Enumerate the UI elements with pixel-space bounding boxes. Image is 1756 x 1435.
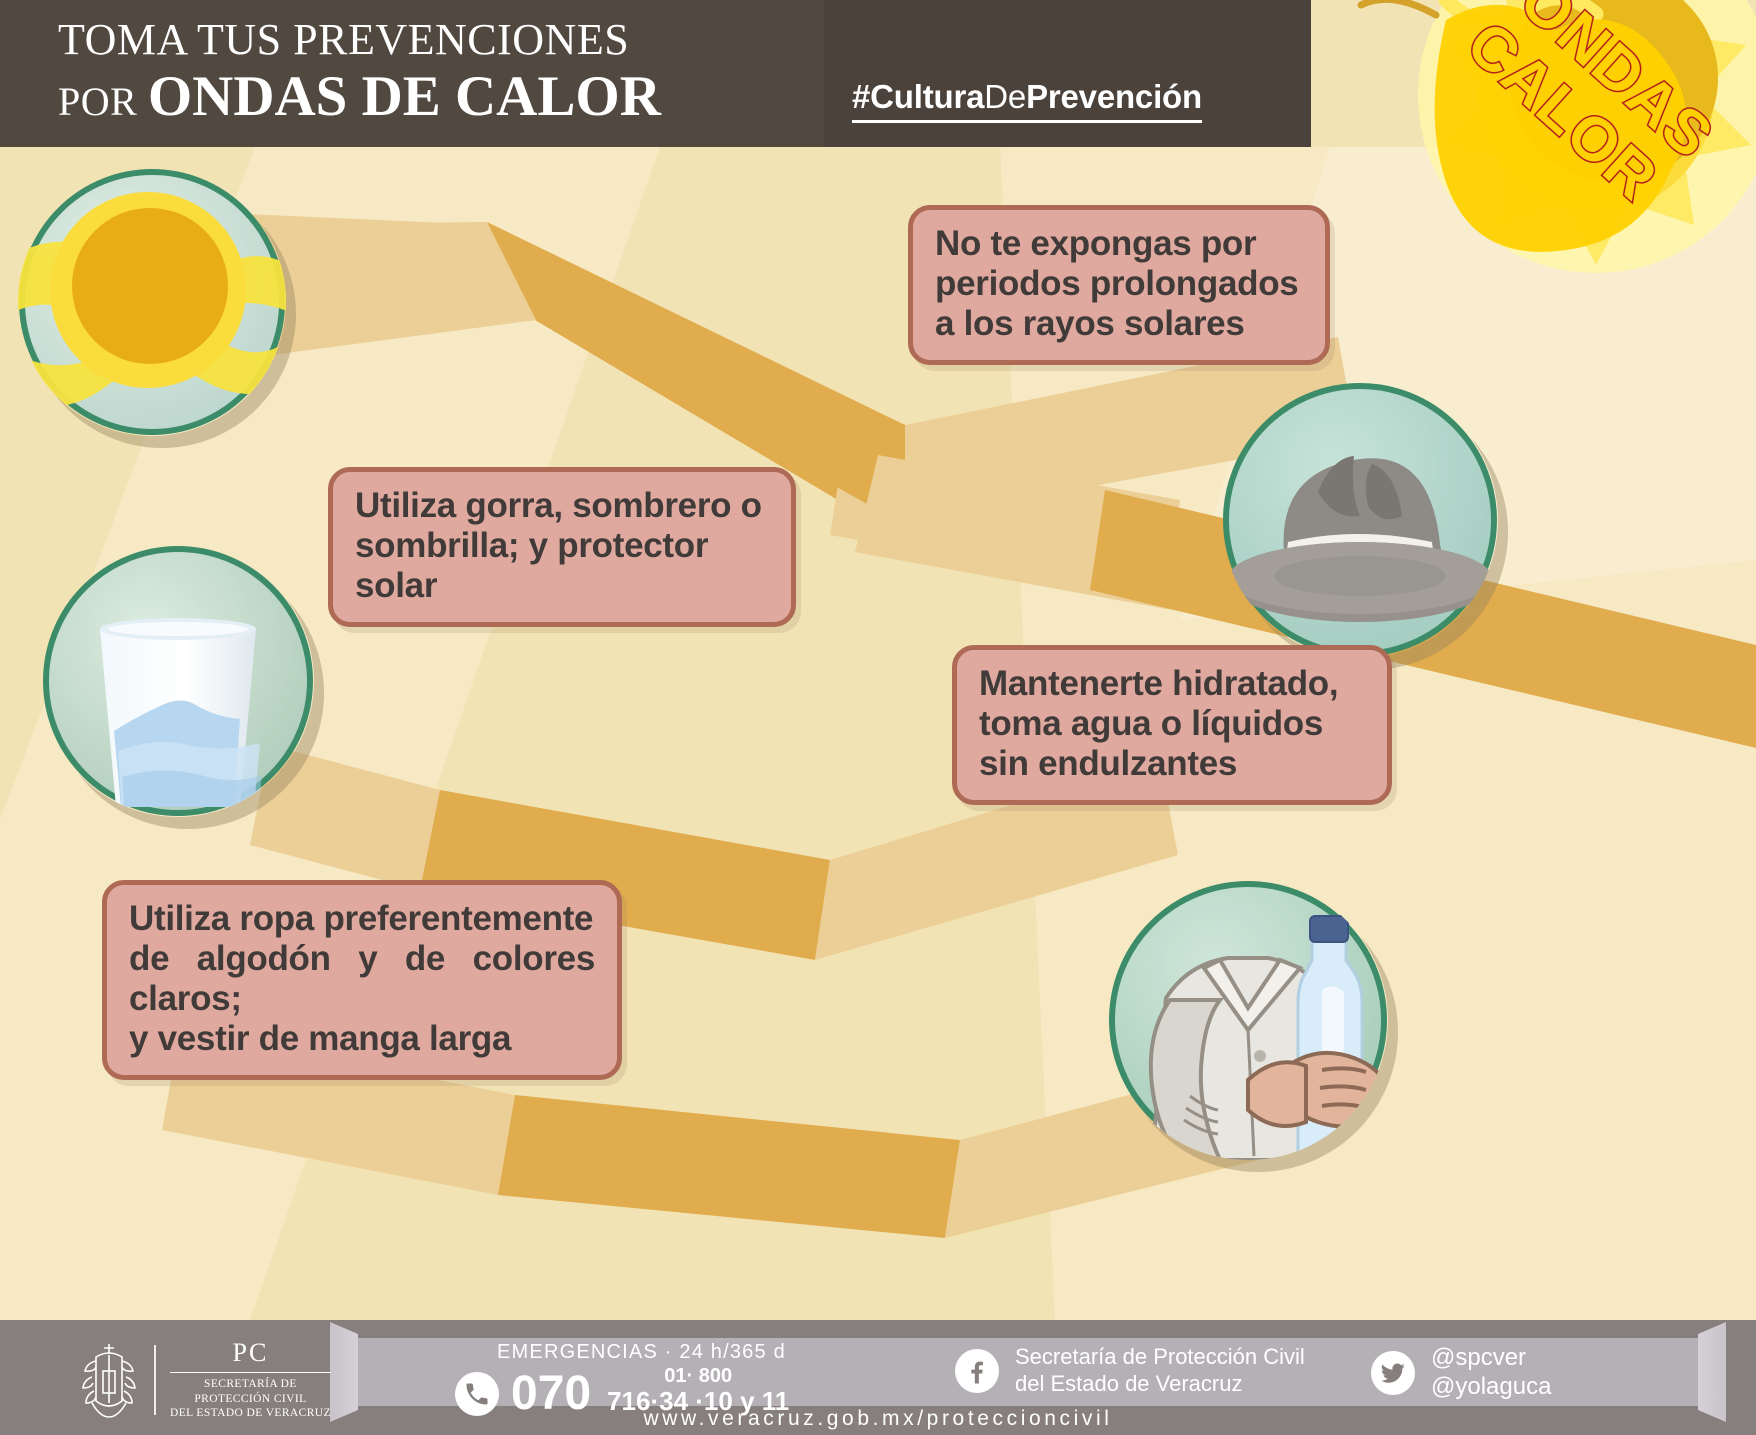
title-line-2-emphasis: ONDAS DE CALOR — [148, 65, 661, 128]
footer-bar: PC SECRETARÍA DE PROTECCIÓN CIVIL DEL ES… — [0, 1320, 1756, 1435]
title-line-2-prefix: POR — [58, 79, 148, 124]
callout-clothing: Utiliza ropa preferentemente de algodón … — [102, 880, 622, 1080]
callout-sun-exposure: No te expongas por periodos prolongados … — [908, 205, 1330, 365]
infographic-poster: TOMA TUS PREVENCIONES POR ONDAS DE CALOR… — [0, 0, 1756, 1435]
callout-line: Mantenerte hidratado, — [979, 664, 1365, 704]
page-title: TOMA TUS PREVENCIONES POR ONDAS DE CALOR — [58, 18, 661, 125]
facebook-line-1: Secretaría de Protección Civil — [1015, 1344, 1305, 1371]
callout-line: Utiliza ropa preferentemente — [129, 899, 595, 939]
callout-line: No te expongas por — [935, 224, 1303, 264]
title-line-2: POR ONDAS DE CALOR — [58, 68, 661, 125]
facebook-icon — [955, 1349, 999, 1393]
callout-line: de algodón y de colores claros; — [129, 939, 595, 1019]
callout-line: toma agua o líquidos — [979, 704, 1365, 744]
hashtag-part-3: Prevención — [1026, 78, 1202, 115]
twitter-handle-1: @spcver — [1431, 1344, 1551, 1373]
facebook-line-2: del Estado de Veracruz — [1015, 1371, 1305, 1398]
facebook-contact[interactable]: Secretaría de Protección Civil del Estad… — [955, 1344, 1305, 1398]
twitter-text: @spcver @yolaguca — [1431, 1344, 1551, 1402]
ondas-de-calor-sun-logo: DE ONDAS CALOR — [1296, 0, 1756, 300]
hashtag-culture-prevention: #CulturaDePrevención — [852, 78, 1202, 123]
emergency-contact[interactable]: EMERGENCIAS · 24 h/365 d 070 01· 800 716… — [455, 1342, 789, 1417]
sun-icon-badge — [18, 168, 286, 436]
hat-icon — [1222, 382, 1498, 658]
callout-hydration: Mantenerte hidratado, toma agua o líquid… — [952, 645, 1392, 805]
emergency-text-group: EMERGENCIAS · 24 h/365 d 070 01· 800 716… — [455, 1342, 789, 1417]
sun-icon — [18, 168, 286, 436]
person-bottle-icon-badge — [1108, 880, 1388, 1160]
emergency-label: EMERGENCIAS · 24 h/365 d — [455, 1342, 789, 1362]
callout-hat-sunscreen: Utiliza gorra, sombrero o sombrilla; y p… — [328, 467, 796, 627]
institution-line-1: SECRETARÍA DE — [170, 1377, 331, 1392]
header-bar: TOMA TUS PREVENCIONES POR ONDAS DE CALOR… — [0, 0, 1311, 147]
institution-rule — [170, 1372, 331, 1373]
person-bottle-icon — [1108, 880, 1388, 1160]
emergency-alt-prefix: 01· 800 — [607, 1365, 789, 1387]
callout-line: periodos prolongados — [935, 264, 1303, 304]
title-line-1: TOMA TUS PREVENCIONES — [58, 18, 661, 62]
facebook-text: Secretaría de Protección Civil del Estad… — [1015, 1344, 1305, 1398]
twitter-contact[interactable]: @spcver @yolaguca — [1371, 1344, 1551, 1402]
water-glass-icon-badge — [42, 545, 314, 817]
hat-icon-badge — [1222, 382, 1498, 658]
logo-divider — [154, 1345, 156, 1415]
callout-line: Utiliza gorra, sombrero o — [355, 486, 769, 526]
institution-acronym: PC — [170, 1338, 331, 1368]
website-url[interactable]: www.veracruz.gob.mx/proteccioncivil — [0, 1407, 1756, 1431]
twitter-handle-2: @yolaguca — [1431, 1373, 1551, 1402]
water-glass-icon — [42, 545, 314, 817]
hashtag-part-2: De — [984, 78, 1026, 115]
callout-line: y vestir de manga larga — [129, 1019, 595, 1059]
callout-line: sin endulzantes — [979, 744, 1365, 784]
callout-line: a los rayos solares — [935, 304, 1303, 344]
institution-line-2: PROTECCIÓN CIVIL — [170, 1392, 331, 1407]
hashtag-part-1: #Cultura — [852, 78, 984, 115]
callout-line: sombrilla; y protector solar — [355, 526, 769, 606]
twitter-icon — [1371, 1351, 1415, 1395]
